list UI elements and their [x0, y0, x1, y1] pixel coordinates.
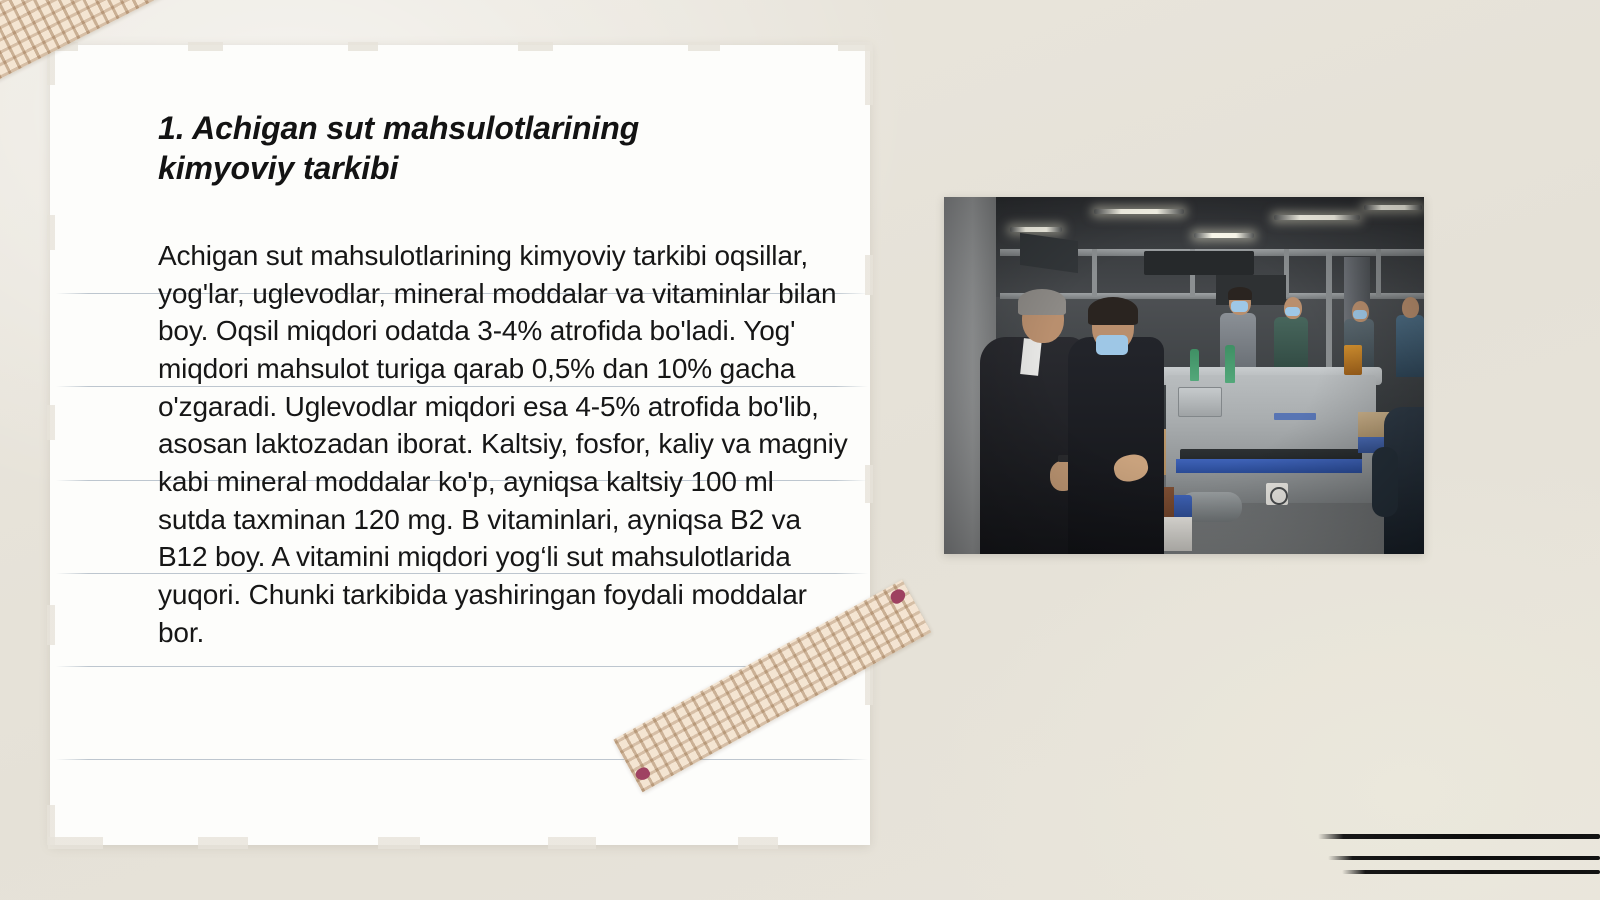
- slide-canvas: 1. Achigan sut mahsulotlarining kimyoviy…: [0, 0, 1600, 900]
- brush-lines-decoration: [1318, 828, 1600, 884]
- brush-line: [1342, 870, 1600, 874]
- slide-title: 1. Achigan sut mahsulotlarining kimyoviy…: [158, 109, 758, 188]
- factory-photo: [944, 197, 1424, 554]
- brush-line: [1328, 856, 1600, 860]
- brush-line: [1318, 834, 1600, 839]
- slide-body-text: Achigan sut mahsulotlarining kimyoviy ta…: [158, 237, 848, 651]
- photo-vignette: [944, 197, 1424, 554]
- ruled-line: [56, 759, 868, 760]
